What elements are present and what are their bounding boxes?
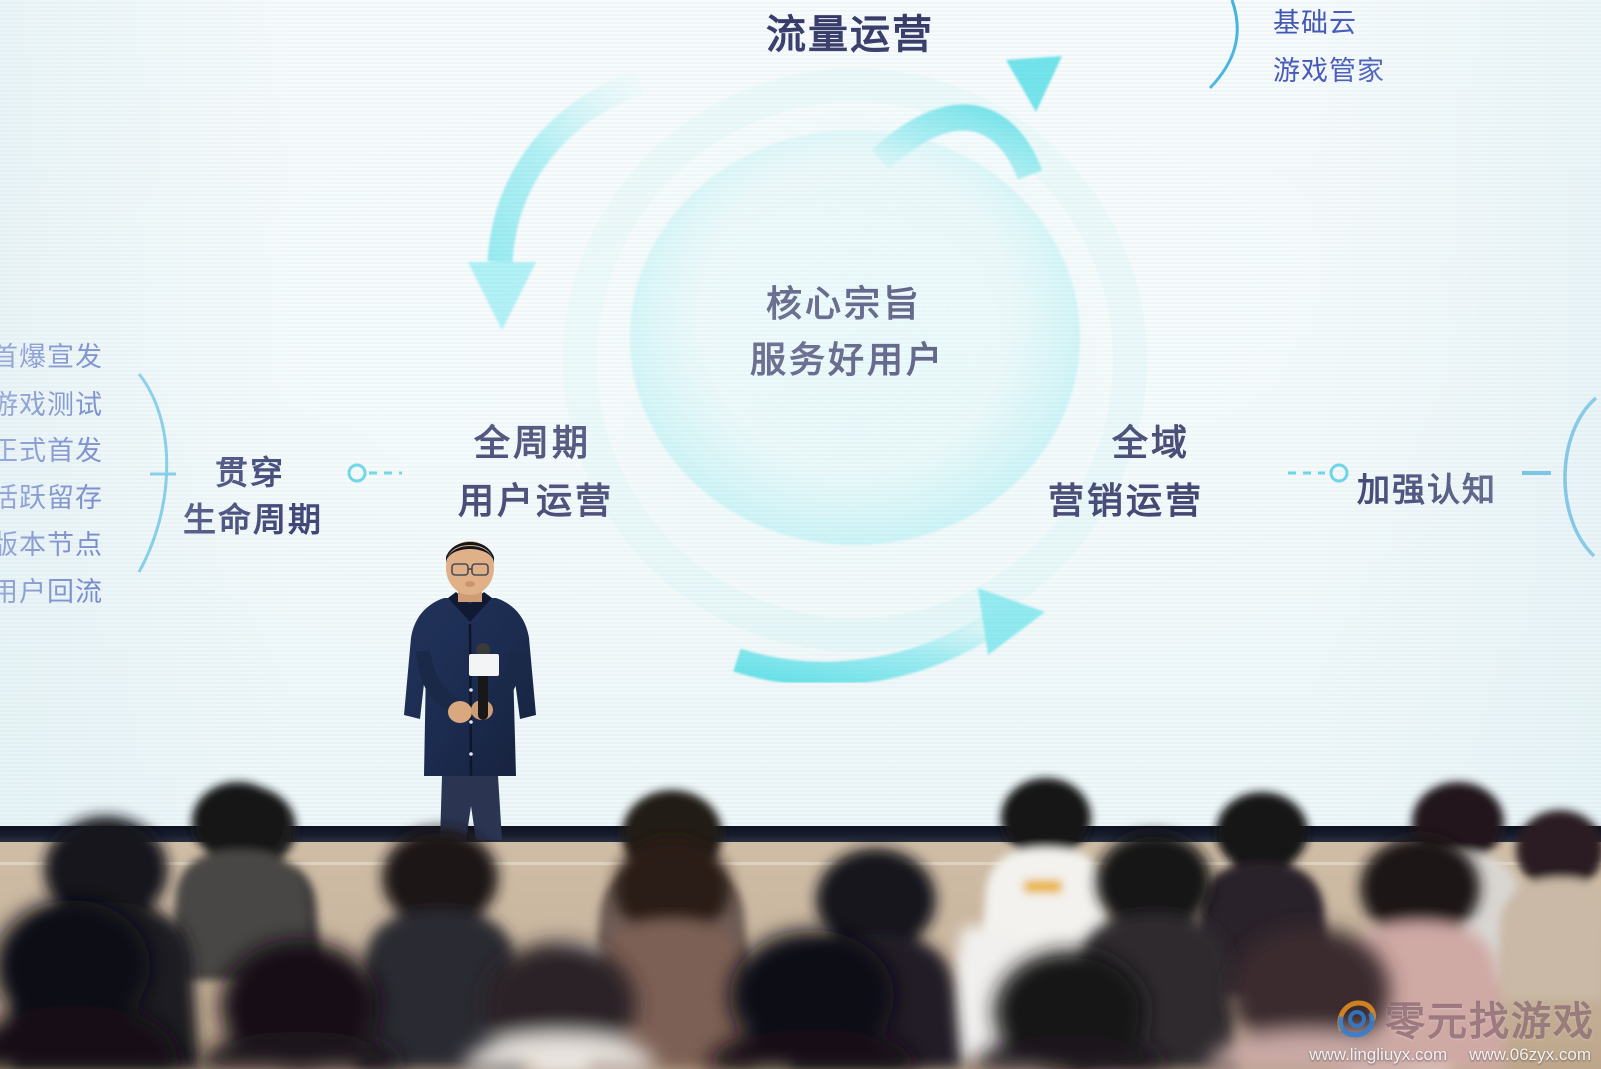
slide-left-pillar-line2: 用户运营 [458, 472, 614, 524]
slide-far-left-line2: 生命周期 [183, 493, 323, 541]
slide-left-list-item-4: 版本节点 [0, 523, 103, 562]
slide-far-right-label: 加强认知 [1357, 463, 1497, 511]
speaker-mouth [465, 581, 475, 587]
slide-right-pillar-line1: 全域 [1112, 414, 1190, 466]
slide-top-label: 流量运营 [766, 2, 934, 60]
slide-left-list-item-1: 游戏测试 [0, 383, 103, 422]
right-bracket-curve [1565, 398, 1596, 556]
slide-top-right-item-1: 游戏管家 [1273, 49, 1385, 88]
cycle-diagram-svg [0, 0, 1601, 838]
slide-center-line1: 核心宗旨 [766, 275, 922, 327]
speaker-hand-left [448, 701, 472, 723]
slide-left-list-item-0: 首爆宣发 [0, 335, 103, 374]
audience-group [0, 760, 1601, 1069]
slide-left-list-item-2: 正式首发 [0, 429, 103, 468]
slide-left-list-item-5: 用户回流 [0, 570, 103, 609]
left-connector-dot [349, 465, 365, 481]
slide-top-right-item-0: 基础云 [1273, 1, 1357, 40]
microphone-flag [469, 654, 499, 676]
slide-left-list-item-3: 活跃留存 [0, 476, 103, 515]
slide-center-line2: 服务好用户 [750, 331, 945, 383]
slide-far-left-line1: 贯穿 [215, 446, 285, 494]
presentation-screen: 流量运营 核心宗旨 服务好用户 全周期 用户运营 全域 营销运营 贯穿 生命周期… [0, 0, 1601, 838]
top-right-curve [1210, 0, 1237, 88]
slide-left-pillar-line1: 全周期 [474, 414, 591, 466]
photo-stage: 流量运营 核心宗旨 服务好用户 全周期 用户运营 全域 营销运营 贯穿 生命周期… [0, 0, 1601, 1069]
slide-right-pillar-line2: 营销运营 [1048, 472, 1204, 524]
right-connector-dot [1331, 465, 1347, 481]
